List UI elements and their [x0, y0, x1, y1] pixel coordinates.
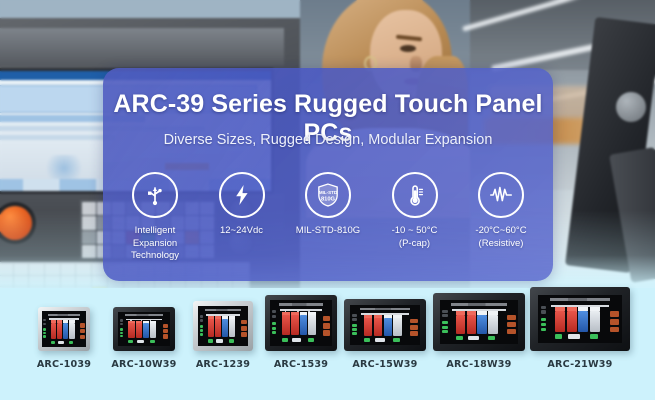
hmi-action-button: [468, 336, 479, 340]
hmi-side-button: [120, 335, 124, 337]
hmi-right-button: [610, 319, 619, 325]
thermometer-icon: [392, 172, 438, 218]
product-lineup-strip: ARC-1039ARC-10W39ARC-1239ARC-1539ARC-15W…: [0, 288, 655, 400]
hmi-action-button: [69, 341, 73, 345]
operator-eye: [400, 45, 416, 52]
hero-banner-card: ARC-39 Series Rugged Touch Panel PCs Div…: [103, 68, 553, 281]
hmi-side-button: [352, 328, 357, 331]
product-device: [38, 307, 90, 351]
hmi-action-button: [590, 334, 598, 339]
hmi-tank: [384, 318, 392, 336]
feature-item-temperature-pcap: -10 ~ 50°C (P-cap): [373, 172, 457, 250]
feature-item-power: 12~24Vdc: [200, 172, 284, 238]
hmi-action-button: [375, 338, 385, 342]
hmi-tank: [215, 319, 221, 337]
hmi-side-button: [352, 314, 357, 317]
hmi-header-bar: [125, 314, 162, 316]
hmi-action-button: [58, 341, 64, 345]
hmi-mimic-screen: [538, 295, 622, 343]
hmi-tank: [128, 323, 134, 338]
hmi-tank: [51, 323, 56, 339]
hmi-tank: [555, 311, 565, 332]
promo-banner-page: ARC-39 Series Rugged Touch Panel PCs Div…: [0, 0, 655, 400]
hmi-side-button: [120, 328, 124, 330]
vibration-waveform-icon: [478, 172, 524, 218]
hmi-tank: [229, 319, 235, 337]
hmi-side-button: [272, 315, 276, 318]
product-device: [433, 293, 525, 351]
hmi-tank: [456, 315, 465, 334]
hmi-header-bar: [360, 308, 410, 310]
cnc-screen-row: [0, 135, 115, 140]
product-screen: [440, 300, 518, 344]
hmi-action-button: [128, 340, 133, 343]
feature-item-milstd: MIL-STD 810G MIL-STD-810G: [286, 172, 370, 238]
hmi-header-bar: [48, 314, 80, 316]
mil-std-shield-icon: MIL-STD 810G: [305, 172, 351, 218]
hmi-side-button: [352, 332, 357, 335]
hmi-action-button: [488, 336, 495, 340]
hmi-tank: [308, 315, 315, 335]
product-label: ARC-15W39: [352, 359, 417, 370]
feature-caption: Intelligent Expansion Technology: [131, 225, 179, 263]
hmi-mimic-screen: [42, 311, 86, 347]
hmi-tank: [57, 323, 62, 339]
hmi-tank: [567, 311, 577, 332]
feature-caption: MIL-STD-810G: [296, 225, 360, 238]
product-label: ARC-18W39: [446, 359, 511, 370]
product-device: [344, 299, 426, 351]
hmi-side-button: [352, 324, 357, 327]
hmi-action-button: [150, 340, 155, 343]
svg-text:810G: 810G: [321, 196, 336, 202]
hmi-tank: [364, 318, 372, 336]
hmi-tank: [300, 315, 307, 335]
hmi-mimic-screen: [270, 300, 332, 346]
usb-expansion-icon: [132, 172, 178, 218]
hmi-right-button: [410, 325, 418, 330]
hmi-tank: [488, 315, 497, 334]
hmi-action-button: [208, 339, 213, 343]
monitor-mount-hub: [616, 92, 646, 122]
hmi-action-button: [555, 334, 563, 339]
hmi-action-button: [568, 334, 580, 339]
feature-list: Intelligent Expansion Technology 12~24Vd…: [113, 172, 543, 272]
hmi-side-button: [442, 321, 447, 324]
product-screen: [350, 305, 420, 345]
hmi-right-button: [507, 322, 516, 327]
hmi-side-button: [200, 315, 204, 318]
hmi-action-button: [393, 338, 399, 342]
hmi-action-button: [51, 341, 55, 345]
hmi-tank: [222, 319, 228, 337]
hmi-side-button: [43, 335, 46, 338]
hmi-side-button: [541, 306, 547, 309]
hmi-side-button: [43, 319, 46, 322]
hmi-action-button: [364, 338, 370, 342]
hmi-tank: [282, 315, 289, 335]
product-screen: [270, 300, 332, 346]
hmi-side-button: [272, 322, 276, 325]
hmi-right-button: [507, 315, 516, 320]
hmi-action-button: [229, 339, 234, 343]
hmi-side-button: [120, 319, 124, 321]
product-item[interactable]: ARC-21W39: [520, 287, 640, 370]
product-screen: [538, 295, 622, 343]
product-label: ARC-1539: [274, 359, 328, 370]
hmi-side-button: [43, 332, 46, 335]
hmi-tank: [467, 315, 476, 334]
hmi-header-bar: [205, 309, 241, 311]
hmi-right-button: [410, 319, 418, 324]
hmi-side-button: [541, 310, 547, 313]
hmi-mimic-screen: [350, 305, 420, 345]
product-label: ARC-21W39: [547, 359, 612, 370]
hmi-side-button: [200, 319, 204, 322]
hmi-tank: [291, 315, 298, 335]
hmi-side-button: [272, 331, 276, 334]
cnc-hood: [0, 28, 284, 66]
hmi-side-button: [120, 323, 124, 325]
hmi-side-button: [352, 318, 357, 321]
hmi-tank: [477, 315, 486, 334]
hmi-tank: [63, 323, 68, 339]
hmi-action-button: [137, 340, 144, 343]
hmi-header-bar: [451, 303, 507, 306]
product-device: [530, 287, 630, 351]
hmi-mimic-screen: [440, 300, 518, 344]
product-screen: [42, 311, 86, 347]
hmi-tank: [393, 318, 401, 336]
hmi-right-button: [507, 329, 516, 334]
hmi-side-button: [272, 327, 276, 330]
hmi-side-button: [43, 323, 46, 326]
hmi-tank: [69, 323, 74, 339]
hmi-side-button: [120, 332, 124, 334]
hmi-right-button: [610, 327, 619, 333]
hmi-tank: [578, 311, 588, 332]
feature-caption: -20°C~60°C (Resistive): [475, 225, 526, 250]
hmi-tank: [143, 323, 149, 338]
hmi-side-button: [541, 318, 547, 321]
feature-item-temperature-resistive: -20°C~60°C (Resistive): [459, 172, 543, 250]
hmi-header-bar: [550, 298, 610, 301]
hmi-action-button: [216, 339, 223, 343]
hmi-right-button: [410, 331, 418, 336]
hmi-tank: [150, 323, 156, 338]
page-subtitle: Diverse Sizes, Rugged Design, Modular Ex…: [103, 132, 553, 148]
hmi-side-button: [200, 325, 204, 328]
svg-text:MIL-STD: MIL-STD: [319, 190, 338, 195]
hmi-side-button: [200, 329, 204, 332]
hmi-side-button: [272, 310, 276, 313]
hmi-tank: [208, 319, 214, 337]
hmi-side-button: [442, 310, 447, 313]
feature-caption: 12~24Vdc: [220, 225, 263, 238]
cnc-screen-crosshair: [41, 155, 87, 181]
hmi-side-button: [442, 330, 447, 333]
hmi-tank: [374, 318, 382, 336]
hmi-side-button: [442, 326, 447, 329]
hmi-action-button: [292, 338, 301, 343]
hmi-header-bar: [279, 303, 324, 306]
hmi-right-button: [610, 311, 619, 317]
feature-item-expansion: Intelligent Expansion Technology: [113, 172, 197, 263]
lightning-bolt-icon: [219, 172, 265, 218]
hmi-action-button: [282, 338, 288, 343]
hmi-tank: [136, 323, 142, 338]
hmi-action-button: [308, 338, 314, 343]
hmi-side-button: [200, 333, 204, 336]
feature-caption: -10 ~ 50°C (P-cap): [392, 225, 438, 250]
hmi-side-button: [541, 323, 547, 326]
hmi-side-button: [541, 328, 547, 331]
hmi-action-button: [456, 336, 463, 340]
hmi-tank: [590, 311, 600, 332]
hmi-side-button: [43, 328, 46, 331]
hmi-side-button: [442, 314, 447, 317]
